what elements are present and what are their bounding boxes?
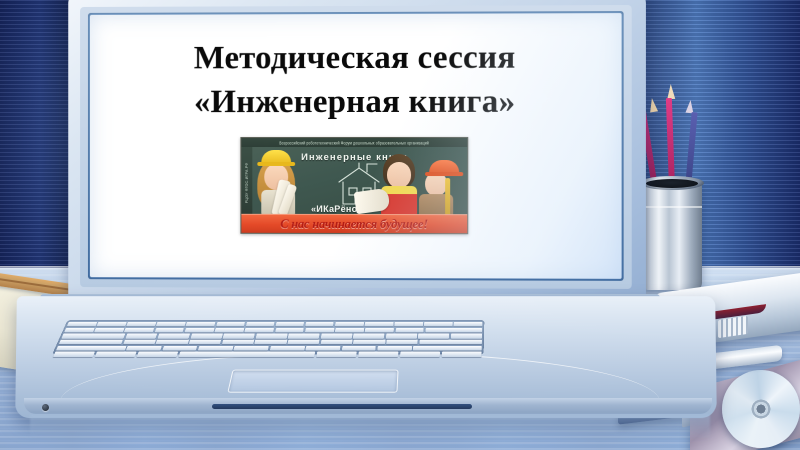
keyboard-key[interactable] xyxy=(154,328,184,333)
banner-side-text: РЦОУ ФГОС-ИГРА.РФ xyxy=(245,163,249,204)
keyboard-key-backspace[interactable] xyxy=(425,328,482,333)
keyboard-key[interactable] xyxy=(126,322,156,327)
keyboard-key[interactable] xyxy=(184,328,214,333)
laptop-screen[interactable]: Методическая сессия «Инженерная книга» В… xyxy=(90,13,622,279)
keyboard-key[interactable] xyxy=(198,346,234,351)
keyboard-key[interactable] xyxy=(67,322,97,327)
keyboard-key[interactable] xyxy=(358,352,399,357)
keyboard-key[interactable] xyxy=(287,340,319,345)
slide-title-line-1: Методическая сессия xyxy=(194,40,516,77)
presentation-slide: Методическая сессия «Инженерная книга» В… xyxy=(90,13,622,279)
keyboard-key[interactable] xyxy=(275,328,304,333)
banner-child-middle xyxy=(377,154,421,216)
banner-child-right xyxy=(417,160,461,216)
keyboard-key[interactable] xyxy=(275,322,304,327)
keyboard-key[interactable] xyxy=(234,346,269,351)
keyboard-key[interactable] xyxy=(223,334,255,339)
banner-slogan: С нас начинается будущее! xyxy=(280,217,428,232)
keyboard-key[interactable] xyxy=(156,322,186,327)
keyboard-key[interactable] xyxy=(245,322,274,327)
keyboard-key[interactable] xyxy=(245,328,275,333)
keyboard-key-space[interactable] xyxy=(178,352,315,357)
keyboard-key-shift-right[interactable] xyxy=(413,346,482,351)
laptop-trackpad[interactable] xyxy=(227,370,398,393)
power-indicator-icon xyxy=(42,404,49,411)
keyboard-key[interactable] xyxy=(341,346,376,351)
banner-top-text: Всероссийский робототехнический Форум до… xyxy=(279,140,429,145)
keyboard-key[interactable] xyxy=(335,328,364,333)
keyboard-key[interactable] xyxy=(353,334,385,339)
keyboard-key[interactable] xyxy=(305,328,334,333)
laptop-front-slot xyxy=(212,404,472,409)
banner-child-left xyxy=(253,150,303,216)
keyboard-key[interactable] xyxy=(270,346,305,351)
keyboard-row xyxy=(56,346,482,351)
keyboard-key[interactable] xyxy=(162,346,198,351)
keyboard-key[interactable] xyxy=(305,322,334,327)
keyboard-row xyxy=(64,328,482,333)
keyboard-row xyxy=(59,340,482,345)
keyboard-key[interactable] xyxy=(424,322,452,327)
keyboard-key-caps[interactable] xyxy=(59,340,123,345)
keyboard-key-enter[interactable] xyxy=(419,340,482,345)
keyboard-key[interactable] xyxy=(124,328,154,333)
keyboard-key[interactable] xyxy=(255,340,287,345)
banner-tool-icon xyxy=(445,178,450,218)
keyboard-key[interactable] xyxy=(320,340,352,345)
keyboard-key-ctrl[interactable] xyxy=(53,352,95,357)
keyboard-key[interactable] xyxy=(158,334,190,339)
keyboard-key[interactable] xyxy=(454,322,482,327)
keyboard-key[interactable] xyxy=(400,352,440,357)
slide-stage: Методическая сессия «Инженерная книга» В… xyxy=(0,0,800,450)
keyboard-key[interactable] xyxy=(335,322,364,327)
banner-slogan-band: С нас начинается будущее! xyxy=(241,214,467,233)
keyboard-key[interactable] xyxy=(353,340,385,345)
laptop: Методическая сессия «Инженерная книга» В… xyxy=(0,0,800,450)
keyboard-row xyxy=(61,334,482,339)
keyboard-key[interactable] xyxy=(190,334,222,339)
keyboard-key[interactable] xyxy=(123,340,156,345)
keyboard-key[interactable] xyxy=(288,334,320,339)
slide-title-line-2: «Инженерная книга» xyxy=(106,80,606,125)
keyboard-key[interactable] xyxy=(394,322,423,327)
keyboard-row xyxy=(53,352,482,357)
keyboard-key[interactable] xyxy=(189,340,222,345)
page-title: Методическая сессия «Инженерная книга» xyxy=(106,35,606,124)
banner-side-strip: РЦОУ ФГОС-ИГРА.РФ xyxy=(241,147,252,219)
orange-hard-hat-icon xyxy=(429,160,459,175)
keyboard-key[interactable] xyxy=(365,322,394,327)
keyboard-key-alt-right[interactable] xyxy=(316,352,357,357)
keyboard-key-fn[interactable] xyxy=(95,352,137,357)
keyboard-key[interactable] xyxy=(255,334,287,339)
keyboard-key[interactable] xyxy=(126,346,162,351)
keyboard-key[interactable] xyxy=(365,328,394,333)
yellow-hard-hat-icon xyxy=(261,150,291,165)
keyboard-key[interactable] xyxy=(186,322,216,327)
keyboard-key[interactable] xyxy=(306,346,341,351)
keyboard-key[interactable] xyxy=(441,352,481,357)
keyboard-key[interactable] xyxy=(451,334,482,339)
keyboard-key[interactable] xyxy=(215,328,245,333)
keyboard-key[interactable] xyxy=(94,328,124,333)
keyboard-key-shift-left[interactable] xyxy=(56,346,126,351)
keyboard-key-alt[interactable] xyxy=(137,352,179,357)
keyboard-key[interactable] xyxy=(156,340,189,345)
keyboard-key[interactable] xyxy=(386,340,418,345)
keyboard-key[interactable] xyxy=(386,334,417,339)
keyboard-key[interactable] xyxy=(125,334,158,339)
banner-top-strip: Всероссийский робототехнический Форум до… xyxy=(241,138,467,147)
keyboard-row xyxy=(67,322,483,327)
keyboard-key[interactable] xyxy=(97,322,127,327)
keyboard-key[interactable] xyxy=(64,328,94,333)
keyboard-key[interactable] xyxy=(222,340,255,345)
keyboard-key[interactable] xyxy=(395,328,424,333)
keyboard-key[interactable] xyxy=(321,334,353,339)
laptop-lid: Методическая сессия «Инженерная книга» В… xyxy=(68,0,646,311)
keyboard-key[interactable] xyxy=(216,322,245,327)
forum-banner-image: Всероссийский робототехнический Форум до… xyxy=(240,137,468,234)
keyboard-key[interactable] xyxy=(377,346,412,351)
keyboard-key[interactable] xyxy=(418,334,449,339)
screen-frame: Методическая сессия «Инженерная книга» В… xyxy=(88,11,624,281)
laptop-keyboard[interactable] xyxy=(52,320,484,354)
keyboard-key-tab[interactable] xyxy=(61,334,125,339)
